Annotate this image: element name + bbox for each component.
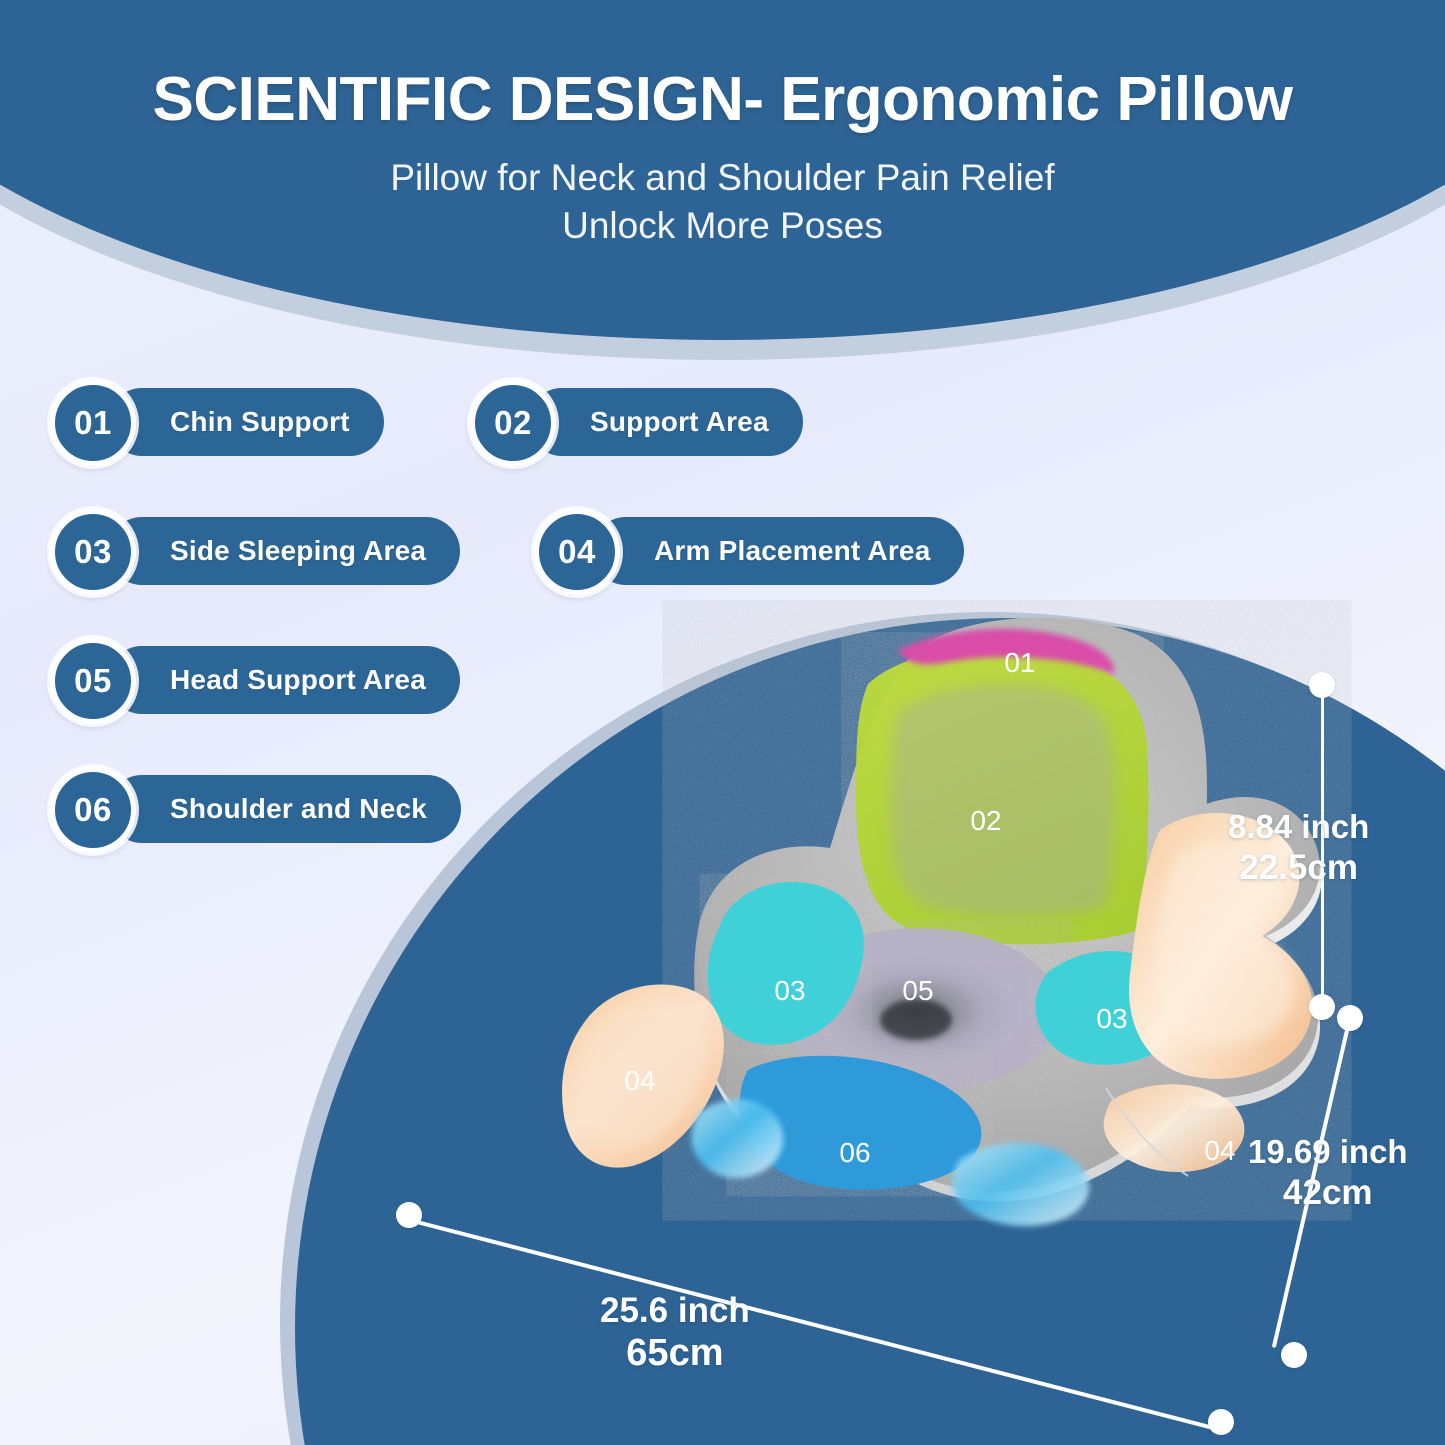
width-dim-metric: 65cm	[600, 1331, 750, 1376]
depth-dimension-label: 19.69 inch 42cm	[1248, 1133, 1408, 1213]
dimension-annotations: 8.84 inch 22.5cm 19.69 inch 42cm 25.6 in…	[0, 0, 1445, 1445]
infographic-page: SCIENTIFIC DESIGN- Ergonomic Pillow Pill…	[0, 0, 1445, 1445]
height-dim-imperial: 8.84 inch	[1228, 808, 1369, 847]
depth-dim-dot-bottom	[1281, 1342, 1307, 1368]
depth-dim-imperial: 19.69 inch	[1248, 1133, 1408, 1172]
depth-dim-dot-top	[1337, 1005, 1363, 1031]
height-dimension-label: 8.84 inch 22.5cm	[1228, 808, 1369, 888]
height-dim-metric: 22.5cm	[1228, 847, 1369, 888]
width-dim-line	[412, 1219, 1214, 1430]
width-dim-dot-right	[1208, 1409, 1234, 1435]
height-dim-dot-bottom	[1309, 994, 1335, 1020]
width-dimension-label: 25.6 inch 65cm	[600, 1290, 750, 1376]
width-dim-imperial: 25.6 inch	[600, 1290, 750, 1331]
depth-dim-metric: 42cm	[1248, 1172, 1408, 1213]
